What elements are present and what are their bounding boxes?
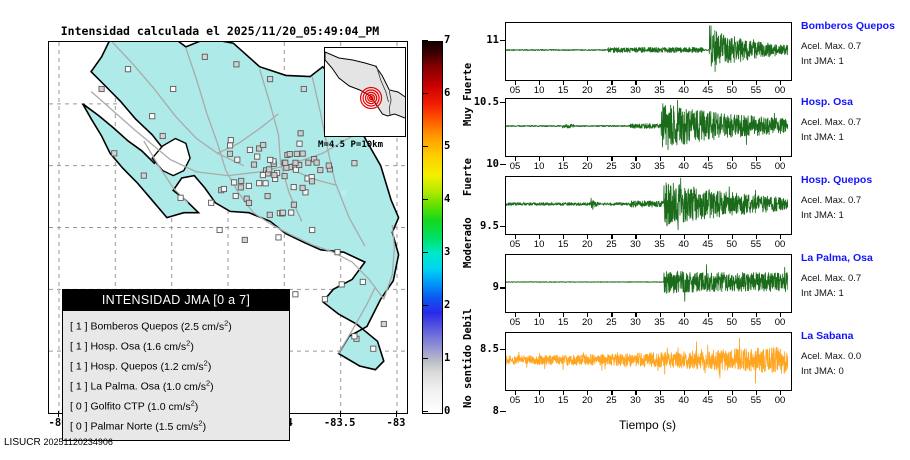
time-tick-label: 15 [551, 239, 575, 250]
seismogram-trace-3[interactable] [505, 176, 792, 235]
map-x-tick: -83.5 [310, 417, 370, 429]
time-tick-label: 35 [648, 239, 672, 250]
station-name-5[interactable]: La Sabana [801, 330, 854, 342]
time-tick-label: 05 [503, 85, 527, 96]
inset-canvas [325, 48, 405, 136]
time-tick-label: 40 [672, 317, 696, 328]
colorbar-tick-7: 7 [444, 34, 450, 46]
legend-station-row: [ 0 ] Palmar Norte (1.5 cm/s2) [70, 415, 289, 435]
time-tick-label: 55 [744, 239, 768, 250]
time-tick-label: 25 [599, 317, 623, 328]
time-tick-label: 20 [575, 85, 599, 96]
legend-acceleration: (1.0 cm/s2) [147, 401, 198, 413]
station-max-acceleration-2: Acel. Max. 0.7 [801, 117, 861, 128]
time-tick-label: 00 [768, 317, 792, 328]
time-tick-label: 55 [744, 161, 768, 172]
legend-intensity-value: [ 1 ] [70, 321, 88, 333]
seismogram-trace-1[interactable] [505, 22, 792, 81]
colorbar-tick-3: 3 [444, 246, 450, 258]
time-tick-label: 35 [648, 395, 672, 406]
station-name-3[interactable]: Hosp. Quepos [801, 174, 872, 186]
page-title: Intensidad calculada el 2025/11/20_05:49… [0, 24, 440, 38]
station-max-acceleration-4: Acel. Max. 0.7 [801, 273, 861, 284]
time-tick-label: 15 [551, 85, 575, 96]
station-jma-intensity-5: Int JMA: 0 [801, 366, 844, 377]
station-jma-intensity-4: Int JMA: 1 [801, 288, 844, 299]
legend-title: INTENSIDAD JMA [0 a 7] [63, 290, 289, 311]
legend-acceleration: (1.2 cm/s2) [160, 361, 211, 373]
time-tick-label: 15 [551, 317, 575, 328]
time-tick-label: 30 [623, 239, 647, 250]
legend-station-row: [ 1 ] Hosp. Osa (1.6 cm/s2) [70, 335, 289, 355]
colorbar-tick-2: 2 [444, 299, 450, 311]
station-jma-intensity-2: Int JMA: 1 [801, 132, 844, 143]
time-tick-label: 40 [672, 85, 696, 96]
time-tick-label: 20 [575, 395, 599, 406]
colorbar-category: Debil [462, 308, 474, 340]
colorbar-category: Fuerte [462, 158, 474, 196]
station-max-acceleration-1: Acel. Max. 0.7 [801, 41, 861, 52]
time-tick-label: 45 [696, 161, 720, 172]
time-tick-label: 30 [623, 85, 647, 96]
station-name-2[interactable]: Hosp. Osa [801, 96, 853, 108]
time-tick-label: 10 [527, 239, 551, 250]
time-tick-label: 45 [696, 85, 720, 96]
waveform-canvas [506, 177, 788, 231]
legend-station-row: [ 1 ] La Palma. Osa (1.0 cm/s2) [70, 375, 289, 395]
station-max-acceleration-3: Acel. Max. 0.7 [801, 195, 861, 206]
station-jma-intensity-3: Int JMA: 1 [801, 210, 844, 221]
legend-acceleration: (1.0 cm/s2) [163, 381, 214, 393]
legend-station-name: La Palma. Osa [90, 381, 159, 393]
time-tick-label: 40 [672, 239, 696, 250]
time-tick-label: 05 [503, 161, 527, 172]
time-tick-label: 55 [744, 317, 768, 328]
colorbar-tick-6: 6 [444, 87, 450, 99]
time-tick-label: 35 [648, 85, 672, 96]
time-tick-label: 10 [527, 161, 551, 172]
time-tick-label: 50 [720, 317, 744, 328]
colorbar-tick-0: 0 [444, 405, 450, 417]
colorbar-category: No sentido [462, 345, 474, 408]
waveform-canvas [506, 255, 788, 309]
time-tick-label: 15 [551, 395, 575, 406]
time-tick-label: 00 [768, 395, 792, 406]
time-tick-label: 35 [648, 317, 672, 328]
station-name-1[interactable]: Bomberos Quepos [801, 20, 895, 32]
station-jma-intensity-1: Int JMA: 1 [801, 56, 844, 67]
time-tick-label: 45 [696, 239, 720, 250]
time-tick-label: 50 [720, 85, 744, 96]
legend-intensity-value: [ 1 ] [70, 381, 88, 393]
footer-timestamp-code: 20251120234906 [43, 437, 112, 447]
time-tick-label: 05 [503, 395, 527, 406]
time-axis-label: Tiempo (s) [505, 418, 790, 432]
legend-station-name: Bomberos Quepos [90, 321, 178, 333]
time-tick-label: 10 [527, 317, 551, 328]
magnitude-depth-label: M=4.5 P=10km [318, 140, 383, 150]
colorbar-tick-1: 1 [444, 352, 450, 364]
legend-acceleration: (1.5 cm/s2) [155, 421, 206, 433]
time-axis-ticks-3: 051015202530354045505500 [505, 235, 790, 251]
footer-credit: LISUCR 20251120234906 [4, 437, 113, 448]
legend-station-name: Palmar Norte [90, 421, 152, 433]
legend-station-name: Hosp. Osa [90, 341, 140, 353]
time-axis-ticks-5: 051015202530354045505500 [505, 391, 790, 407]
time-tick-label: 55 [744, 395, 768, 406]
time-tick-label: 20 [575, 239, 599, 250]
station-name-4[interactable]: La Palma, Osa [801, 252, 873, 264]
time-tick-label: 50 [720, 395, 744, 406]
time-tick-label: 30 [623, 161, 647, 172]
time-tick-label: 05 [503, 239, 527, 250]
time-axis-ticks-4: 051015202530354045505500 [505, 313, 790, 329]
colorbar-tick-4: 4 [444, 193, 450, 205]
time-tick-label: 40 [672, 395, 696, 406]
intensity-legend: INTENSIDAD JMA [0 a 7] [ 1 ] Bomberos Qu… [62, 289, 290, 441]
colorbar-category: Muy Fuerte [462, 63, 474, 126]
seismogram-trace-5[interactable] [505, 332, 792, 391]
seismogram-trace-2[interactable] [505, 98, 792, 157]
epicenter-inset-map[interactable] [324, 47, 406, 137]
time-tick-label: 30 [623, 317, 647, 328]
footer-agency: LISUCR [4, 437, 41, 448]
time-tick-label: 00 [768, 85, 792, 96]
map-x-tick: -83 [366, 417, 426, 429]
time-tick-label: 10 [527, 85, 551, 96]
time-tick-label: 45 [696, 395, 720, 406]
legend-acceleration: (1.6 cm/s2) [143, 341, 194, 353]
legend-station-row: [ 1 ] Hosp. Quepos (1.2 cm/s2) [70, 355, 289, 375]
time-tick-label: 45 [696, 317, 720, 328]
time-tick-label: 15 [551, 161, 575, 172]
map-y-tick: 9 [439, 281, 499, 293]
waveform-canvas [506, 333, 788, 387]
legend-station-name: Hosp. Quepos [90, 361, 157, 373]
time-tick-label: 35 [648, 161, 672, 172]
seismogram-trace-4[interactable] [505, 254, 792, 313]
time-axis-ticks-1: 051015202530354045505500 [505, 81, 790, 97]
time-tick-label: 25 [599, 239, 623, 250]
time-tick-label: 40 [672, 161, 696, 172]
legend-intensity-value: [ 0 ] [70, 421, 88, 433]
legend-station-row: [ 1 ] Bomberos Quepos (2.5 cm/s2) [70, 315, 289, 335]
time-tick-label: 50 [720, 161, 744, 172]
legend-rows: [ 1 ] Bomberos Quepos (2.5 cm/s2)[ 1 ] H… [63, 311, 289, 440]
legend-acceleration: (2.5 cm/s2) [181, 321, 232, 333]
legend-station-name: Golfito CTP [90, 401, 144, 413]
legend-station-row: [ 0 ] Golfito CTP (1.0 cm/s2) [70, 395, 289, 415]
time-tick-label: 00 [768, 239, 792, 250]
waveform-canvas [506, 23, 788, 77]
legend-intensity-value: [ 1 ] [70, 341, 88, 353]
time-tick-label: 20 [575, 317, 599, 328]
time-tick-label: 20 [575, 161, 599, 172]
colorbar-category: Moderado [462, 217, 474, 268]
time-tick-label: 25 [599, 161, 623, 172]
time-tick-label: 05 [503, 317, 527, 328]
time-tick-label: 55 [744, 85, 768, 96]
waveform-canvas [506, 99, 788, 153]
time-tick-label: 25 [599, 395, 623, 406]
time-tick-label: 25 [599, 85, 623, 96]
legend-intensity-value: [ 1 ] [70, 361, 88, 373]
time-tick-label: 30 [623, 395, 647, 406]
colorbar-tick-5: 5 [444, 140, 450, 152]
station-max-acceleration-5: Acel. Max. 0.0 [801, 351, 861, 362]
time-tick-label: 00 [768, 161, 792, 172]
legend-intensity-value: [ 0 ] [70, 401, 88, 413]
time-axis-ticks-2: 051015202530354045505500 [505, 157, 790, 173]
time-tick-label: 50 [720, 239, 744, 250]
time-tick-label: 10 [527, 395, 551, 406]
